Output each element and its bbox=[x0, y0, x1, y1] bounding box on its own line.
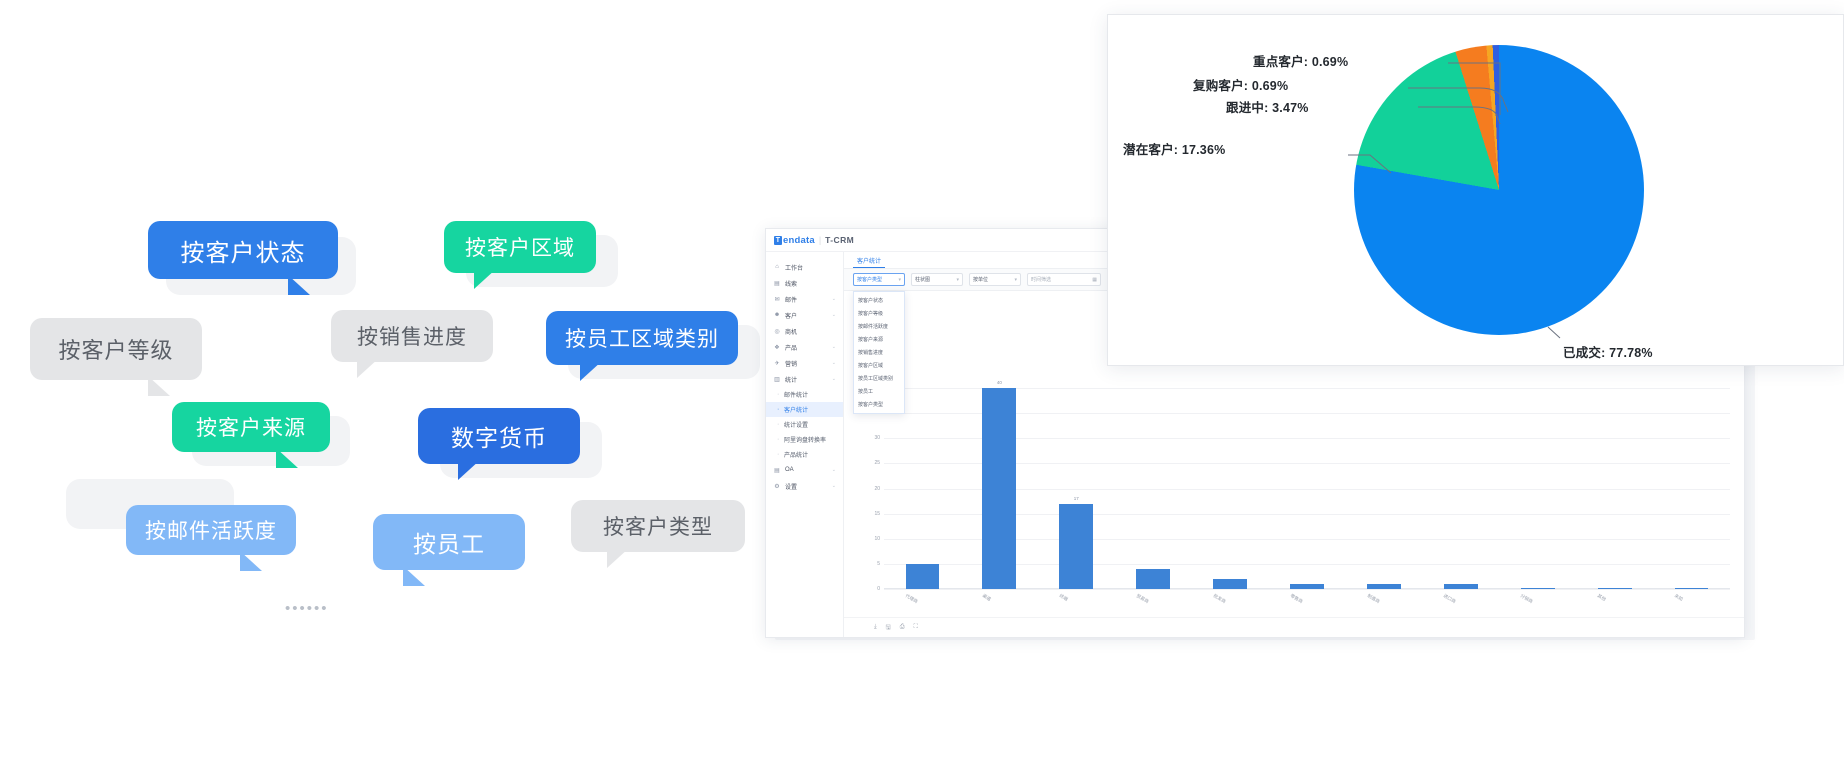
y-axis-tick: 25 bbox=[874, 460, 880, 466]
sidebar-bottom-item-0[interactable]: ▤OA⌄ bbox=[766, 462, 843, 478]
callout-bubble[interactable]: 按邮件活跃度 bbox=[126, 505, 296, 555]
bar[interactable]: 40 bbox=[982, 388, 1016, 589]
chevron-down-icon: ⌄ bbox=[832, 344, 836, 350]
bar[interactable] bbox=[906, 564, 940, 589]
sidebar-subitem-4[interactable]: ·产品统计 bbox=[766, 447, 843, 462]
sidebar-item-5[interactable]: ❖产品⌄ bbox=[766, 339, 843, 355]
sidebar-item-label: 产品 bbox=[785, 343, 797, 352]
chevron-down-icon: ⌄ bbox=[832, 296, 836, 302]
dropdown-item-5[interactable]: 按客户区域 bbox=[854, 359, 904, 372]
chevron-down-icon: ⌄ bbox=[832, 376, 836, 382]
callout-label: 按员工区域类别 bbox=[565, 323, 719, 353]
chevron-down-icon: ⌄ bbox=[832, 312, 836, 318]
callout-label: 按员工 bbox=[413, 525, 485, 559]
x-axis-tick: 进口商 bbox=[1442, 593, 1457, 605]
chevron-down-icon: ▾ bbox=[956, 277, 959, 283]
callout-bubble[interactable]: 按客户来源 bbox=[172, 402, 330, 452]
marketing-icon: ✈ bbox=[773, 359, 781, 367]
bar[interactable] bbox=[1367, 584, 1401, 589]
callout-tail bbox=[240, 551, 262, 571]
unit-select-value: 按单位 bbox=[973, 276, 988, 283]
callout-bubble[interactable]: 数字货币 bbox=[418, 408, 580, 464]
sidebar-item-label: 邮件 bbox=[785, 295, 797, 304]
chevron-down-icon: ⌄ bbox=[832, 360, 836, 366]
settings-icon: ⚙ bbox=[773, 482, 781, 490]
sidebar-bottom-item-label: 设置 bbox=[785, 482, 797, 491]
stats-icon: ▥ bbox=[773, 375, 781, 383]
y-axis-tick: 20 bbox=[874, 486, 880, 492]
callout-bubble[interactable]: 按销售进度 bbox=[331, 310, 493, 362]
calendar-icon: ▦ bbox=[1092, 277, 1097, 283]
bar[interactable] bbox=[1598, 588, 1632, 589]
callout-bubble[interactable]: 按客户等级 bbox=[30, 318, 202, 380]
sidebar-item-6[interactable]: ✈营销⌄ bbox=[766, 355, 843, 371]
pie-slices bbox=[1354, 45, 1644, 335]
sidebar-item-7[interactable]: ▥统计⌄ bbox=[766, 371, 843, 387]
sidebar-item-4[interactable]: ◎商机 bbox=[766, 323, 843, 339]
opportunity-icon: ◎ bbox=[773, 327, 781, 335]
callout-tail bbox=[474, 269, 496, 289]
sidebar-subitem-label: 阿里询盘转换率 bbox=[784, 435, 826, 444]
sidebar-bottom-item-1[interactable]: ⚙设置⌄ bbox=[766, 478, 843, 494]
dropdown-item-1[interactable]: 按客户等级 bbox=[854, 307, 904, 320]
oa-icon: ▤ bbox=[773, 466, 781, 474]
sidebar-bottom-item-label: OA bbox=[785, 467, 794, 473]
callout-tail bbox=[403, 566, 425, 586]
sidebar-item-2[interactable]: ✉邮件⌄ bbox=[766, 291, 843, 307]
callout-tail bbox=[607, 548, 629, 568]
callout-label: 按客户类型 bbox=[603, 511, 713, 541]
callout-tail bbox=[288, 275, 310, 295]
logo-wordmark: endata bbox=[783, 235, 815, 246]
bar[interactable] bbox=[1521, 588, 1555, 589]
callout-bubble[interactable]: 按客户状态 bbox=[148, 221, 338, 279]
date-filter-input[interactable]: 时间筛选 ▦ bbox=[1027, 273, 1101, 286]
dimension-dropdown-menu[interactable]: 按客户状态按客户等级按邮件活跃度按客户来源按销售进度按客户区域按员工区域类别按员… bbox=[853, 291, 905, 414]
sidebar-subitem-label: 邮件统计 bbox=[784, 390, 808, 399]
sidebar-sub-nav: ·邮件统计·客户统计·统计设置·阿里询盘转换率·产品统计 bbox=[766, 387, 843, 462]
tab-customer-stats[interactable]: 客户统计 bbox=[853, 256, 885, 268]
dimension-select-value: 按客户类型 bbox=[857, 276, 882, 283]
product-icon: ❖ bbox=[773, 343, 781, 351]
sidebar-subitem-label: 客户统计 bbox=[784, 405, 808, 414]
callout-tail bbox=[357, 358, 379, 378]
x-axis-tick: 未知 bbox=[1673, 593, 1684, 603]
y-axis-tick: 5 bbox=[877, 561, 880, 567]
x-axis-tick: 制造商 bbox=[1366, 593, 1381, 605]
dropdown-item-4[interactable]: 按销售进度 bbox=[854, 346, 904, 359]
bullet-icon: · bbox=[777, 406, 784, 413]
callout-tail bbox=[148, 376, 170, 396]
logo-badge: T bbox=[774, 236, 782, 245]
sidebar-item-label: 营销 bbox=[785, 359, 797, 368]
sidebar-item-3[interactable]: ☻客户⌄ bbox=[766, 307, 843, 323]
x-axis-tick: 分销商 bbox=[1519, 593, 1534, 605]
pie-chart bbox=[1354, 45, 1644, 335]
charttype-select-value: 柱状图 bbox=[915, 276, 930, 283]
unit-select[interactable]: 按单位 ▾ bbox=[969, 273, 1021, 286]
chevron-down-icon: ▾ bbox=[1014, 277, 1017, 283]
logo-separator: | bbox=[819, 235, 821, 245]
sidebar-main-nav: ⌂工作台▤线索✉邮件⌄☻客户⌄◎商机❖产品⌄✈营销⌄▥统计⌄ bbox=[766, 259, 843, 387]
sidebar-subitem-label: 统计设置 bbox=[784, 420, 808, 429]
dropdown-item-8[interactable]: 按客户类型 bbox=[854, 398, 904, 411]
clue-icon: ▤ bbox=[773, 279, 781, 287]
chart-tool-icon-3[interactable]: ⛶ bbox=[914, 624, 918, 631]
chart-tool-icon-2[interactable]: ⎙ bbox=[900, 624, 905, 631]
bar[interactable] bbox=[1675, 588, 1709, 589]
x-axis-tick: 渠道 bbox=[981, 593, 992, 603]
bar-value-label: 40 bbox=[997, 380, 1002, 385]
sidebar-item-1[interactable]: ▤线索 bbox=[766, 275, 843, 291]
dropdown-item-3[interactable]: 按客户来源 bbox=[854, 333, 904, 346]
bullet-icon: · bbox=[777, 451, 784, 458]
dropdown-item-7[interactable]: 按员工 bbox=[854, 385, 904, 398]
bar[interactable] bbox=[1444, 584, 1478, 589]
customer-icon: ☻ bbox=[773, 311, 781, 319]
pie-slice-label: 已成交: 77.78% bbox=[1563, 342, 1653, 361]
y-axis-tick: 15 bbox=[874, 511, 880, 517]
callout-bubble[interactable]: 按客户类型 bbox=[571, 500, 745, 552]
date-filter-placeholder: 时间筛选 bbox=[1031, 276, 1051, 283]
bar[interactable]: 17 bbox=[1059, 504, 1093, 589]
dropdown-item-0[interactable]: 按客户状态 bbox=[854, 294, 904, 307]
x-axis-tick: 零售商 bbox=[1289, 593, 1304, 605]
sidebar-item-label: 工作台 bbox=[785, 263, 803, 272]
sidebar-item-label: 统计 bbox=[785, 375, 797, 384]
dropdown-item-6[interactable]: 按员工区域类别 bbox=[854, 372, 904, 385]
y-axis-tick: 30 bbox=[874, 435, 880, 441]
ellipsis-text: •••••• bbox=[285, 600, 329, 617]
callout-bubble[interactable]: 按员工 bbox=[373, 514, 525, 570]
callout-tail bbox=[276, 448, 298, 468]
bullet-icon: · bbox=[777, 391, 784, 398]
bar[interactable] bbox=[1213, 579, 1247, 589]
dimension-select[interactable]: 按客户类型 ▾ bbox=[853, 273, 905, 286]
x-axis-tick: 批发商 bbox=[1212, 593, 1227, 605]
chart-footer-toolbar: ⤓🖫⎙⛶ bbox=[844, 617, 1744, 637]
sidebar-subitem-2[interactable]: ·统计设置 bbox=[766, 417, 843, 432]
pie-slice-label: 复购客户: 0.69% bbox=[1193, 75, 1288, 94]
callout-label: 按客户区域 bbox=[465, 232, 575, 262]
sidebar-subitem-label: 产品统计 bbox=[784, 450, 808, 459]
sidebar-item-label: 客户 bbox=[785, 311, 797, 320]
callout-bubble[interactable]: 按员工区域类别 bbox=[546, 311, 738, 365]
sidebar-subitem-0[interactable]: ·邮件统计 bbox=[766, 387, 843, 402]
bar[interactable] bbox=[1136, 569, 1170, 589]
y-axis-tick: 0 bbox=[877, 586, 880, 592]
x-axis-tick: 其他 bbox=[1596, 593, 1607, 603]
sidebar-subitem-1[interactable]: ·客户统计 bbox=[766, 402, 843, 417]
callout-label: 按销售进度 bbox=[357, 321, 467, 351]
callout-bubble[interactable]: 按客户区域 bbox=[444, 221, 596, 273]
callout-tail bbox=[458, 460, 480, 480]
x-axis-tick: 代理商 bbox=[904, 593, 919, 605]
charttype-select[interactable]: 柱状图 ▾ bbox=[911, 273, 963, 286]
sidebar-item-label: 商机 bbox=[785, 327, 797, 336]
pie-slice-label: 潜在客户: 17.36% bbox=[1123, 139, 1225, 158]
pie-slice-label: 跟进中: 3.47% bbox=[1226, 97, 1309, 116]
x-axis-tick: 终端 bbox=[1058, 593, 1069, 603]
callout-label: 按邮件活跃度 bbox=[145, 515, 277, 545]
sidebar: ⌂工作台▤线索✉邮件⌄☻客户⌄◎商机❖产品⌄✈营销⌄▥统计⌄ ·邮件统计·客户统… bbox=[766, 252, 844, 637]
bullet-icon: · bbox=[777, 436, 784, 443]
sidebar-bottom-nav: ▤OA⌄⚙设置⌄ bbox=[766, 462, 843, 494]
chevron-down-icon: ▾ bbox=[898, 277, 901, 283]
chevron-down-icon: ⌄ bbox=[832, 483, 836, 489]
bar-value-label: 17 bbox=[1074, 496, 1079, 501]
product-name: T-CRM bbox=[825, 235, 854, 245]
y-axis-tick: 10 bbox=[874, 536, 880, 542]
chart-tool-icon-0[interactable]: ⤓ bbox=[874, 624, 877, 631]
chart-tool-icon-1[interactable]: 🖫 bbox=[886, 623, 891, 633]
callout-label: 按客户等级 bbox=[58, 333, 173, 365]
callout-label: 数字货币 bbox=[451, 419, 547, 453]
poster-canvas: 按客户状态按客户区域按客户等级按销售进度按员工区域类别按客户来源数字货币按邮件活… bbox=[0, 0, 1844, 757]
sidebar-item-label: 线索 bbox=[785, 279, 797, 288]
home-icon: ⌂ bbox=[773, 263, 781, 271]
x-axis-tick: 贸易商 bbox=[1135, 593, 1150, 605]
callout-label: 按客户来源 bbox=[196, 412, 306, 442]
tendata-logo: Tendata bbox=[774, 235, 815, 246]
callout-label: 按客户状态 bbox=[181, 233, 306, 268]
chevron-down-icon: ⌄ bbox=[832, 467, 836, 473]
dropdown-item-2[interactable]: 按邮件活跃度 bbox=[854, 320, 904, 333]
gridline bbox=[884, 589, 1730, 590]
sidebar-item-0[interactable]: ⌂工作台 bbox=[766, 259, 843, 275]
pie-slice-label: 重点客户: 0.69% bbox=[1253, 51, 1348, 70]
bullet-icon: · bbox=[777, 421, 784, 428]
bar-chart-plot: 0510152025303540代理商40渠道17终端贸易商批发商零售商制造商进… bbox=[884, 363, 1730, 589]
mail-icon: ✉ bbox=[773, 295, 781, 303]
pie-chart-panel: 已成交: 77.78%潜在客户: 17.36%跟进中: 3.47%复购客户: 0… bbox=[1107, 14, 1844, 366]
sidebar-subitem-3[interactable]: ·阿里询盘转换率 bbox=[766, 432, 843, 447]
callout-tail bbox=[580, 361, 602, 381]
bar[interactable] bbox=[1290, 584, 1324, 589]
